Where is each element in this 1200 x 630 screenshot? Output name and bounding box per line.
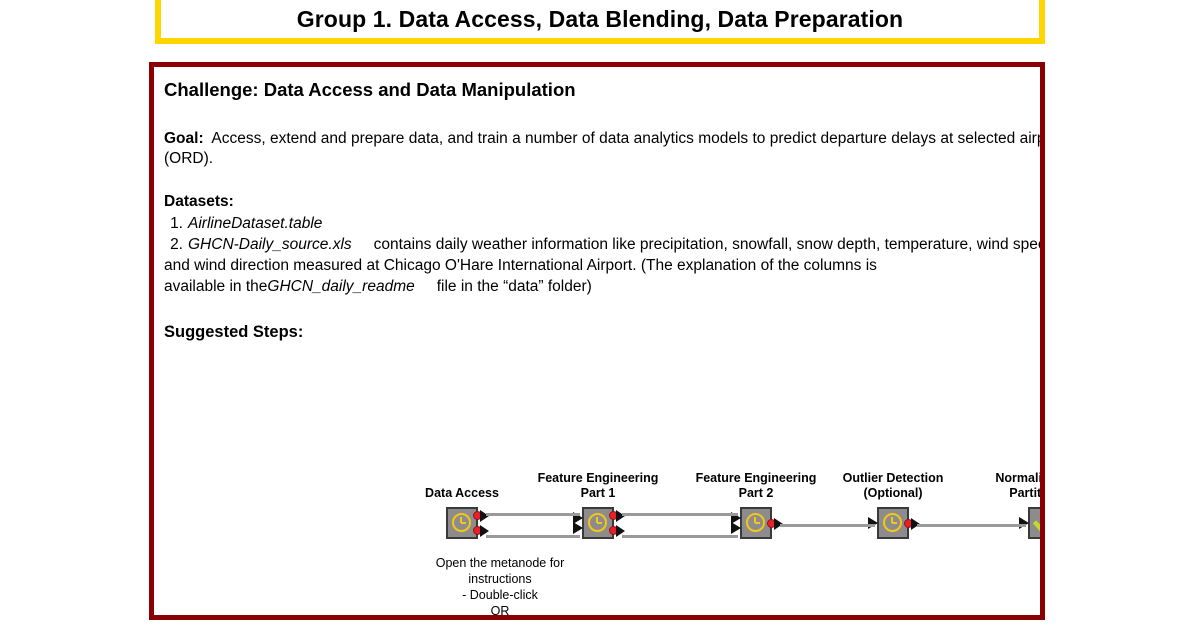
readme-prefix: available in the (164, 278, 267, 295)
readme-suffix: file in the “data” folder) (437, 278, 592, 295)
node-output-port[interactable] (473, 526, 482, 535)
dataset-readme-line: available in theGHCN_daily_readmefile in… (164, 276, 1045, 297)
challenge-heading: Challenge: Data Access and Data Manipula… (164, 79, 1045, 101)
goal-label: Goal: (164, 130, 204, 147)
challenge-panel: Challenge: Data Access and Data Manipula… (149, 62, 1045, 620)
workflow-connector (622, 513, 738, 516)
suggested-steps-heading: Suggested Steps: (164, 323, 1045, 342)
metanode-clock-icon (883, 513, 902, 532)
workflow-caption: Open the metanode for instructions - Dou… (380, 555, 620, 620)
list-item: 1.AirlineDataset.table (164, 213, 1045, 234)
node-input-arrow (1019, 517, 1029, 529)
workflow-connector (780, 524, 875, 527)
page-title: Group 1. Data Access, Data Blending, Dat… (297, 6, 903, 33)
readme-filename: GHCN_daily_readme (267, 278, 414, 295)
workflow-connector (917, 524, 1026, 527)
dataset-filename: GHCN-Daily_source.xls (188, 236, 352, 253)
metanode-box[interactable] (582, 507, 614, 539)
workflow-node-label: Feature Engineering Part 1 (518, 471, 678, 501)
workflow-node-3[interactable]: Feature Engineering Part 2 (740, 507, 772, 539)
metanode-box[interactable] (1028, 507, 1045, 539)
list-item-number: 1. (164, 213, 188, 234)
workflow-node-label: Normalizing and Partitioning (964, 471, 1045, 501)
metanode-clock-icon (588, 513, 607, 532)
workflow-node-1[interactable]: Data Access (446, 507, 478, 539)
dataset-filename: AirlineDataset.table (188, 215, 322, 232)
datasets-block: Datasets: 1.AirlineDataset.table 2.GHCN-… (164, 193, 1045, 297)
workflow-connector (486, 513, 580, 516)
workflow-node-5[interactable]: Normalizing and Partitioning (1028, 507, 1045, 539)
workflow-node-label: Outlier Detection (Optional) (813, 471, 973, 501)
port-arrow (480, 510, 489, 522)
metanode-clock-icon (452, 513, 471, 532)
slide-title-banner: Group 1. Data Access, Data Blending, Dat… (155, 0, 1045, 44)
metanode-box[interactable] (877, 507, 909, 539)
workflow-connector (486, 535, 580, 538)
node-output-port[interactable] (609, 511, 618, 520)
port-arrow (616, 510, 625, 522)
datasets-label: Datasets: (164, 193, 1045, 211)
metanode-box[interactable] (740, 507, 772, 539)
metanode-clock-icon (746, 513, 765, 532)
datasets-list: 1.AirlineDataset.table 2.GHCN-Daily_sour… (164, 213, 1045, 297)
node-output-port[interactable] (473, 511, 482, 520)
node-output-port[interactable] (609, 526, 618, 535)
checkmark-icon (1033, 512, 1045, 534)
node-output-port[interactable] (767, 519, 776, 528)
metanode-box[interactable] (446, 507, 478, 539)
node-input-arrow (573, 522, 583, 534)
knime-workflow-diagram: Data AccessFeature Engineering Part 1Fea… (154, 397, 1045, 597)
workflow-node-4[interactable]: Outlier Detection (Optional) (877, 507, 909, 539)
goal-block: Goal: Access, extend and prepare data, a… (164, 129, 1045, 169)
node-output-port[interactable] (904, 519, 913, 528)
slide-canvas: Group 1. Data Access, Data Blending, Dat… (0, 0, 1200, 630)
node-input-arrow (868, 517, 878, 529)
challenge-panel-content: Challenge: Data Access and Data Manipula… (154, 67, 1045, 615)
list-item-number: 2. (164, 234, 188, 255)
workflow-node-label: Feature Engineering Part 2 (676, 471, 836, 501)
workflow-connector (622, 535, 738, 538)
workflow-node-2[interactable]: Feature Engineering Part 1 (582, 507, 614, 539)
goal-text: Access, extend and prepare data, and tra… (164, 130, 1045, 167)
node-input-arrow (731, 522, 741, 534)
list-item: 2.GHCN-Daily_source.xlscontains daily we… (164, 234, 1045, 276)
